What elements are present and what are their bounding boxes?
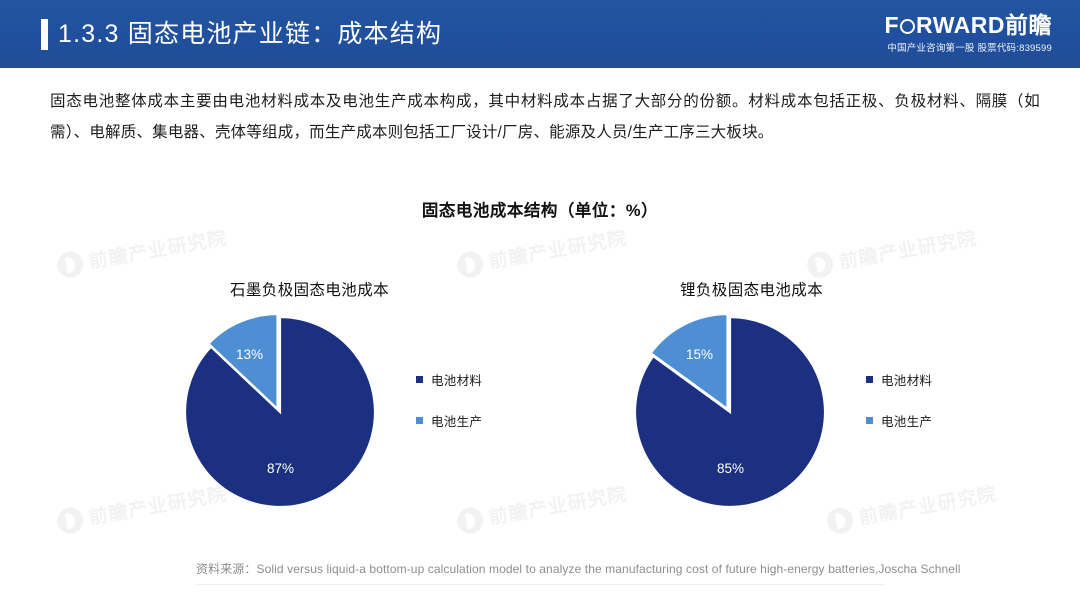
pie-subtitle: 石墨负极固态电池成本: [230, 278, 540, 300]
chart-title: 固态电池成本结构（单位：%）: [0, 197, 1080, 221]
watermark: 前瞻产业研究院: [55, 223, 229, 279]
legend-label: 电池材料: [881, 370, 932, 389]
brand-logo-wordmark: F RWARD前瞻: [884, 14, 1052, 37]
title-accent-bar: [41, 19, 48, 50]
watermark: 前瞻产业研究院: [805, 223, 979, 279]
pie-value-production: 13%: [236, 348, 263, 362]
pie-svg: [630, 312, 830, 512]
watermark: 前瞻产业研究院: [455, 223, 629, 279]
pie-legend: 电池材料 电池生产: [866, 370, 932, 452]
slide-canvas: 前瞻产业研究院 前瞻产业研究院 前瞻产业研究院 前瞻产业研究院 前瞻产业研究院 …: [0, 0, 1080, 607]
watermark-logo-icon: [805, 249, 835, 279]
watermark-logo-icon: [55, 505, 85, 535]
legend-swatch-icon: [866, 417, 873, 424]
pie-value-material: 87%: [267, 462, 294, 476]
legend-label: 电池材料: [431, 370, 482, 389]
legend-swatch-icon: [866, 376, 873, 383]
brand-logo-suffix: RWARD前瞻: [916, 14, 1052, 37]
pie-value-material: 85%: [717, 462, 744, 476]
watermark-text: 前瞻产业研究院: [486, 223, 629, 274]
pie-legend: 电池材料 电池生产: [416, 370, 482, 452]
brand-logo: F RWARD前瞻 中国产业咨询第一股 股票代码:839599: [884, 14, 1052, 54]
body-paragraph: 固态电池整体成本主要由电池材料成本及电池生产成本构成，其中材料成本占据了大部分的…: [50, 86, 1040, 148]
watermark-logo-icon: [55, 249, 85, 279]
pie-graphic: 15% 85% 电池材料 电池生产: [630, 312, 830, 512]
source-citation: 资料来源：Solid versus liquid-a bottom-up cal…: [196, 560, 961, 577]
watermark-logo-icon: [455, 249, 485, 279]
legend-item-production: 电池生产: [866, 411, 932, 430]
watermark-text: 前瞻产业研究院: [836, 223, 979, 274]
pie-svg: [180, 312, 380, 512]
pie-graphic: 13% 87% 电池材料 电池生产: [180, 312, 380, 512]
header-band: 1.3.3 固态电池产业链：成本结构 F RWARD前瞻 中国产业咨询第一股 股…: [0, 0, 1080, 68]
brand-ring-icon: [900, 19, 915, 34]
footer-divider: [196, 584, 886, 585]
brand-subtitle: 中国产业咨询第一股 股票代码:839599: [884, 44, 1052, 54]
pie-value-production: 15%: [686, 348, 713, 362]
watermark-text: 前瞻产业研究院: [86, 223, 229, 274]
legend-label: 电池生产: [431, 411, 482, 430]
legend-swatch-icon: [416, 417, 423, 424]
legend-label: 电池生产: [881, 411, 932, 430]
brand-logo-prefix: F: [884, 14, 899, 37]
legend-item-production: 电池生产: [416, 411, 482, 430]
pie-chart-lithium: 锂负极固态电池成本 15% 85% 电池材料 电池生产: [630, 278, 1000, 512]
page-title: 1.3.3 固态电池产业链：成本结构: [58, 17, 442, 51]
pie-chart-graphite: 石墨负极固态电池成本 13% 87% 电池材料 电池生产: [180, 278, 540, 512]
legend-swatch-icon: [416, 376, 423, 383]
legend-item-material: 电池材料: [866, 370, 932, 389]
legend-item-material: 电池材料: [416, 370, 482, 389]
pie-subtitle: 锂负极固态电池成本: [680, 278, 1000, 300]
